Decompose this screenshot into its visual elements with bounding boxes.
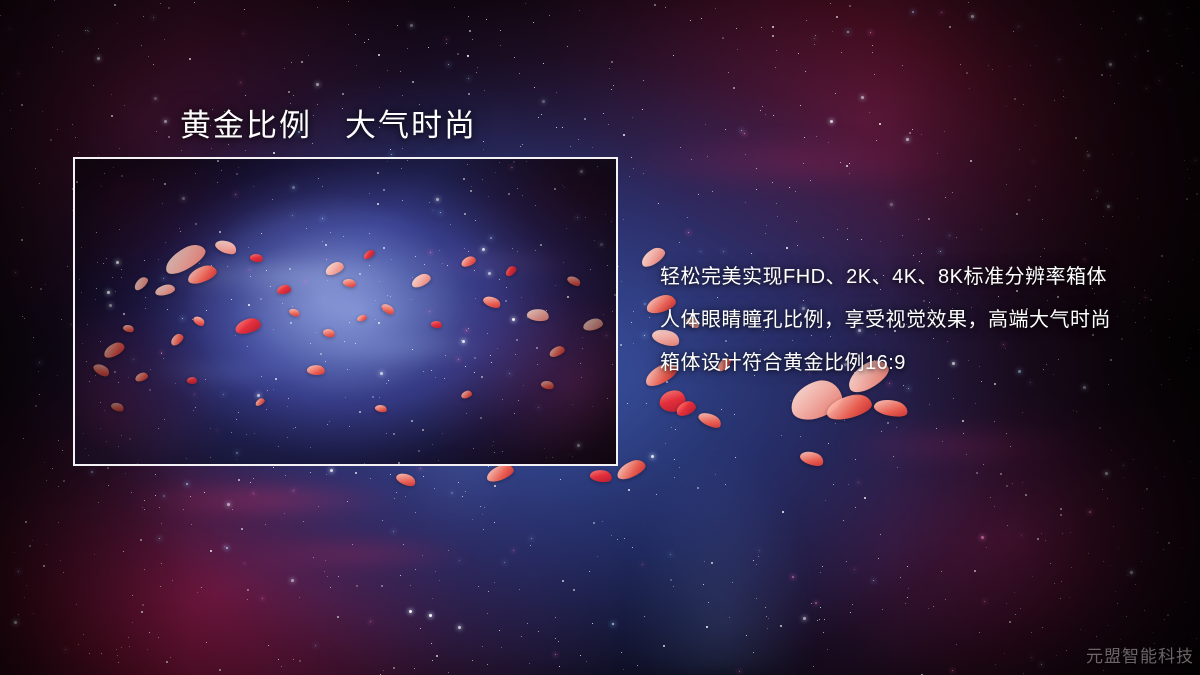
body-line-1: 轻松完美实现FHD、2K、4K、8K标准分辨率箱体 [660,256,1180,299]
body-line-3: 箱体设计符合黄金比例16:9 [660,342,1180,385]
frame-vignette [75,159,616,464]
slide-title: 黄金比例 大气时尚 [180,100,477,145]
body-line-2: 人体眼睛瞳孔比例，享受视觉效果，高端大气时尚 [660,299,1180,342]
slide-body-text: 轻松完美实现FHD、2K、4K、8K标准分辨率箱体 人体眼睛瞳孔比例，享受视觉效… [660,256,1180,385]
presentation-slide: 黄金比例 大气时尚 轻松完美实现FHD、2K、4K、8K标准分辨率箱体 人体眼睛… [0,0,1200,675]
watermark: 元盟智能科技 [1086,642,1194,667]
photo-frame[interactable] [73,157,618,466]
photo-frame-content [75,159,616,464]
